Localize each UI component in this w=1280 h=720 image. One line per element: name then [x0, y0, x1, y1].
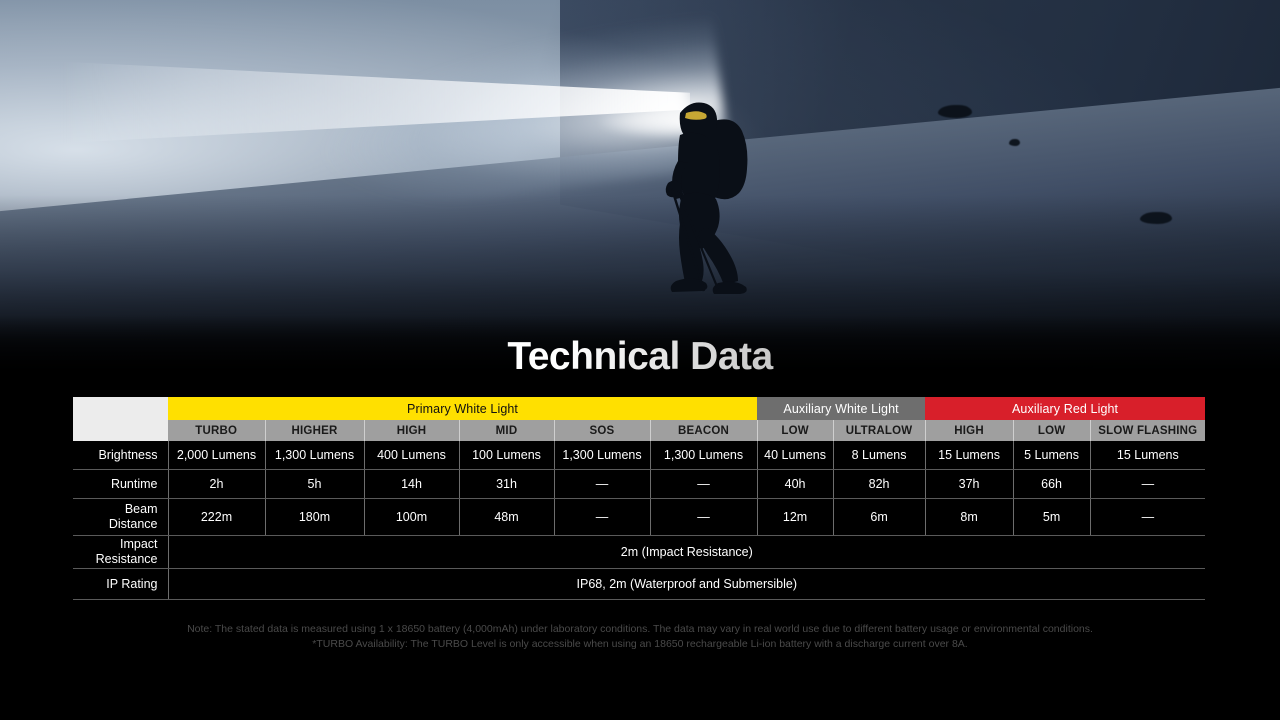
brightness-beacon: 1,300 Lumens — [650, 441, 757, 470]
mode-header-aux-red-slow-flashing: SLOW FLASHING — [1090, 420, 1205, 441]
rock-outcrop — [938, 105, 972, 118]
header-blank-cell — [73, 397, 168, 420]
table-row-ip-rating: IP Rating IP68, 2m (Waterproof and Subme… — [73, 569, 1205, 600]
mode-header-beacon: BEACON — [650, 420, 757, 441]
row-label-brightness: Brightness — [73, 441, 168, 470]
beam-distance-aux-red-slow-flashing: — — [1090, 499, 1205, 536]
page-root: Technical Data Primary White Light Auxil… — [0, 0, 1280, 720]
group-header-auxiliary-red-light: Auxiliary Red Light — [925, 397, 1205, 420]
mode-header-turbo: TURBO — [168, 420, 265, 441]
runtime-mid: 31h — [459, 470, 554, 499]
mode-header-high: HIGH — [364, 420, 459, 441]
rock-outcrop — [1140, 212, 1172, 224]
table-row-impact-resistance: Impact Resistance 2m (Impact Resistance) — [73, 536, 1205, 569]
beam-distance-aux-white-low: 12m — [757, 499, 833, 536]
page-title: Technical Data — [0, 335, 1280, 379]
beam-distance-sos: — — [554, 499, 650, 536]
impact-resistance-value: 2m (Impact Resistance) — [168, 536, 1205, 569]
runtime-higher: 5h — [265, 470, 364, 499]
rock-outcrop — [1009, 139, 1020, 146]
table-group-header-row: Primary White Light Auxiliary White Ligh… — [73, 397, 1205, 420]
brightness-mid: 100 Lumens — [459, 441, 554, 470]
row-label-runtime: Runtime — [73, 470, 168, 499]
footnote-battery-note: Note: The stated data is measured using … — [0, 622, 1280, 637]
brightness-aux-white-low: 40 Lumens — [757, 441, 833, 470]
runtime-aux-red-slow-flashing: — — [1090, 470, 1205, 499]
beam-distance-aux-red-low: 5m — [1013, 499, 1090, 536]
mode-header-mid: MID — [459, 420, 554, 441]
row-label-impact-resistance-line1: Impact — [73, 537, 158, 552]
runtime-aux-white-ultralow: 82h — [833, 470, 925, 499]
ip-rating-value: IP68, 2m (Waterproof and Submersible) — [168, 569, 1205, 600]
runtime-aux-white-low: 40h — [757, 470, 833, 499]
row-label-ip-rating: IP Rating — [73, 569, 168, 600]
technical-data-table: Primary White Light Auxiliary White Ligh… — [73, 397, 1205, 600]
beam-distance-higher: 180m — [265, 499, 364, 536]
brightness-aux-white-ultralow: 8 Lumens — [833, 441, 925, 470]
row-label-beam-distance-line1: Beam — [73, 502, 158, 517]
group-header-auxiliary-white-light: Auxiliary White Light — [757, 397, 925, 420]
mode-header-aux-white-ultralow: ULTRALOW — [833, 420, 925, 441]
row-label-impact-resistance-line2: Resistance — [73, 552, 158, 567]
runtime-aux-red-high: 37h — [925, 470, 1013, 499]
beam-distance-high: 100m — [364, 499, 459, 536]
row-label-beam-distance: Beam Distance — [73, 499, 168, 536]
brightness-aux-red-high: 15 Lumens — [925, 441, 1013, 470]
beam-distance-turbo: 222m — [168, 499, 265, 536]
table-row-beam-distance: Beam Distance 222m 180m 100m 48m — — 12m… — [73, 499, 1205, 536]
runtime-sos: — — [554, 470, 650, 499]
footnotes: Note: The stated data is measured using … — [0, 622, 1280, 652]
row-label-impact-resistance: Impact Resistance — [73, 536, 168, 569]
table-mode-header-row: TURBO HIGHER HIGH MID SOS BEACON LOW ULT… — [73, 420, 1205, 441]
mode-header-higher: HIGHER — [265, 420, 364, 441]
brightness-higher: 1,300 Lumens — [265, 441, 364, 470]
beam-distance-mid: 48m — [459, 499, 554, 536]
mode-header-sos: SOS — [554, 420, 650, 441]
brightness-sos: 1,300 Lumens — [554, 441, 650, 470]
footnote-turbo-availability: *TURBO Availability: The TURBO Level is … — [0, 637, 1280, 652]
runtime-aux-red-low: 66h — [1013, 470, 1090, 499]
runtime-beacon: — — [650, 470, 757, 499]
brightness-aux-red-low: 5 Lumens — [1013, 441, 1090, 470]
row-label-beam-distance-line2: Distance — [73, 517, 158, 532]
beam-distance-beacon: — — [650, 499, 757, 536]
brightness-high: 400 Lumens — [364, 441, 459, 470]
table-row-brightness: Brightness 2,000 Lumens 1,300 Lumens 400… — [73, 441, 1205, 470]
table-row-runtime: Runtime 2h 5h 14h 31h — — 40h 82h 37h 66… — [73, 470, 1205, 499]
spec-table: Primary White Light Auxiliary White Ligh… — [73, 397, 1205, 600]
group-header-primary-white-light: Primary White Light — [168, 397, 757, 420]
mode-header-aux-white-low: LOW — [757, 420, 833, 441]
brightness-aux-red-slow-flashing: 15 Lumens — [1090, 441, 1205, 470]
skier-silhouette — [660, 95, 790, 295]
beam-distance-aux-red-high: 8m — [925, 499, 1013, 536]
beam-distance-aux-white-ultralow: 6m — [833, 499, 925, 536]
mode-header-aux-red-low: LOW — [1013, 420, 1090, 441]
runtime-high: 14h — [364, 470, 459, 499]
mode-header-aux-red-high: HIGH — [925, 420, 1013, 441]
mode-header-blank — [73, 420, 168, 441]
runtime-turbo: 2h — [168, 470, 265, 499]
brightness-turbo: 2,000 Lumens — [168, 441, 265, 470]
